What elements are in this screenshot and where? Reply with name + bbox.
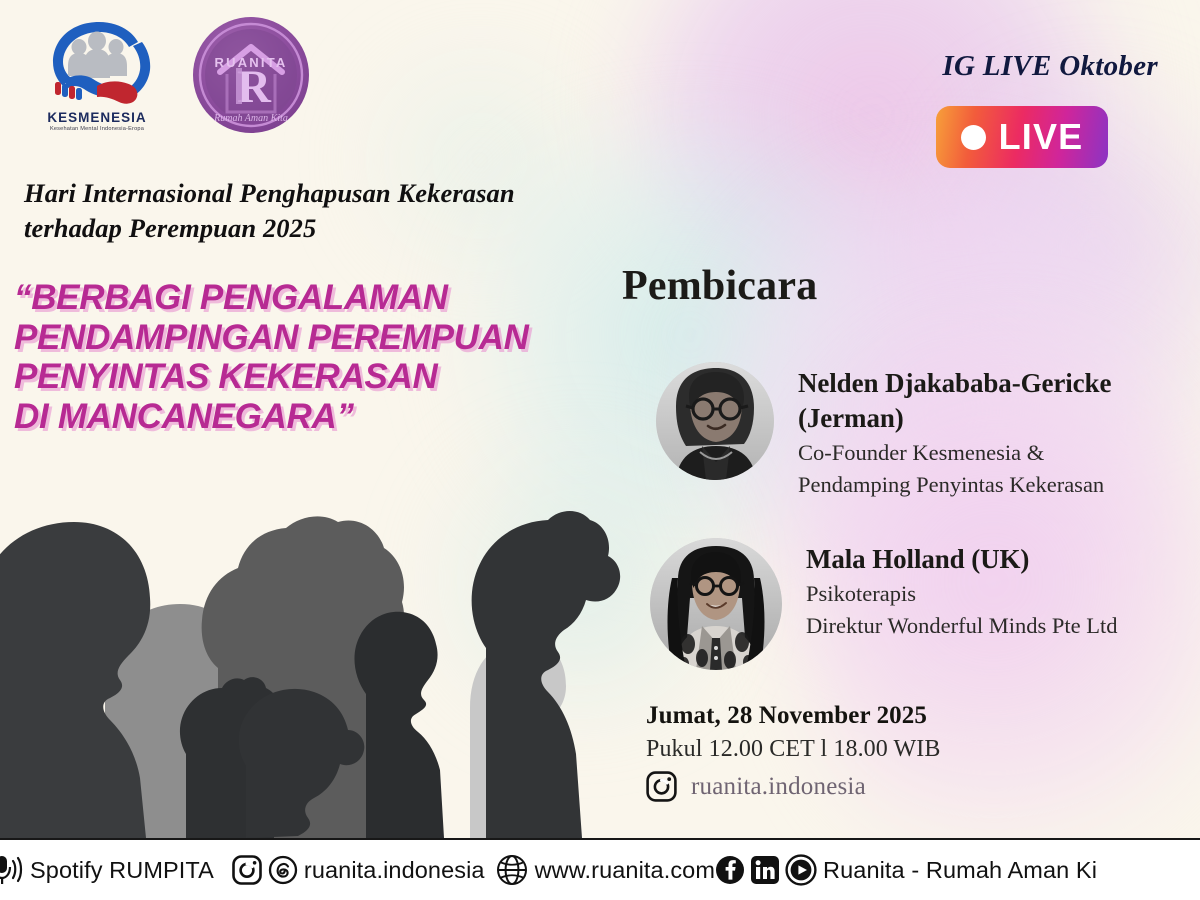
instagram-handle-row[interactable]: ruanita.indonesia — [646, 771, 941, 802]
headline-line-2: PENDAMPINGAN PEREMPUAN — [14, 318, 634, 358]
kesmenesia-logo-icon — [41, 16, 153, 108]
speaker-role-2-line2: Direktur Wonderful Minds Pte Ltd — [806, 611, 1117, 641]
headline-line-3: PENYINTAS KEKERASAN — [14, 357, 634, 397]
footer-bar: Spotify RUMPITA ruanita.indonesia — [0, 838, 1200, 900]
live-dot-icon — [961, 125, 986, 150]
speaker-role-1-line2: Pendamping Penyintas Kekerasan — [798, 470, 1111, 500]
ig-live-label: IG LIVE Oktober — [942, 50, 1158, 83]
kesmenesia-wordmark: KESMENESIA — [36, 110, 158, 125]
poster-canvas: KESMENESIA Kesehatan Mental Indonesia-Er… — [0, 0, 1200, 900]
globe-icon[interactable] — [495, 853, 529, 887]
kesmenesia-logo: KESMENESIA Kesehatan Mental Indonesia-Er… — [36, 16, 158, 132]
footer-items: Spotify RUMPITA ruanita.indonesia — [0, 853, 1097, 887]
schedule-block: Jumat, 28 November 2025 Pukul 12.00 CET … — [646, 702, 941, 802]
speaker-info-1: Nelden Djakababa-Gericke (Jerman) Co-Fou… — [798, 362, 1111, 500]
speaker-info-2: Mala Holland (UK) Psikoterapis Direktur … — [806, 538, 1117, 641]
speaker-photo-mala — [650, 538, 782, 670]
speaker-photo-nelden — [656, 362, 774, 480]
women-silhouettes-illustration — [0, 418, 660, 838]
podcast-microphone-icon[interactable] — [0, 853, 24, 887]
speaker-role-2-line1: Psikoterapis — [806, 579, 1117, 609]
footer-label-website: www.ruanita.com — [535, 857, 715, 884]
speaker-name-1-line2: (Jerman) — [798, 401, 1111, 436]
instagram-icon — [646, 771, 677, 802]
kesmenesia-tagline: Kesehatan Mental Indonesia-Eropa — [36, 126, 158, 132]
logo-group: KESMENESIA Kesehatan Mental Indonesia-Er… — [36, 16, 310, 134]
event-time: Pukul 12.00 CET l 18.00 WIB — [646, 736, 941, 763]
svg-text:R: R — [237, 61, 272, 113]
instagram-icon[interactable] — [232, 855, 262, 885]
footer-label-threads-handle: ruanita.indonesia — [304, 857, 485, 884]
footer-label-spotify: Spotify RUMPITA — [30, 857, 214, 884]
svg-text:Rumah Aman Kita: Rumah Aman Kita — [213, 113, 288, 124]
speakers-heading: Pembicara — [622, 262, 817, 310]
threads-icon[interactable] — [268, 855, 298, 885]
instagram-handle: ruanita.indonesia — [691, 773, 866, 801]
headline: “BERBAGI PENGALAMAN PENDAMPINGAN PEREMPU… — [14, 278, 634, 436]
speaker-name-2: Mala Holland (UK) — [806, 542, 1117, 577]
event-title: Hari Internasional Penghapusan Kekerasan… — [24, 176, 704, 246]
speaker-card-1: Nelden Djakababa-Gericke (Jerman) Co-Fou… — [656, 362, 1111, 500]
event-title-line1: Hari Internasional Penghapusan Kekerasan — [24, 176, 704, 211]
live-badge-label: LIVE — [999, 119, 1084, 155]
headline-line-1: “BERBAGI PENGALAMAN — [14, 278, 634, 318]
event-date: Jumat, 28 November 2025 — [646, 702, 941, 730]
speaker-role-1-line1: Co-Founder Kesmenesia & — [798, 438, 1111, 468]
ruanita-logo: RUANITA R Rumah Aman Kita — [192, 16, 310, 134]
speaker-name-1: Nelden Djakababa-Gericke — [798, 366, 1111, 401]
linkedin-icon[interactable] — [751, 856, 779, 884]
youtube-icon[interactable] — [785, 854, 817, 886]
live-badge: LIVE — [936, 106, 1108, 168]
speaker-card-2: Mala Holland (UK) Psikoterapis Direktur … — [650, 538, 1117, 670]
footer-label-youtube: Ruanita - Rumah Aman Ki — [823, 857, 1097, 884]
facebook-icon[interactable] — [715, 855, 745, 885]
event-title-line2: terhadap Perempuan 2025 — [24, 211, 704, 246]
